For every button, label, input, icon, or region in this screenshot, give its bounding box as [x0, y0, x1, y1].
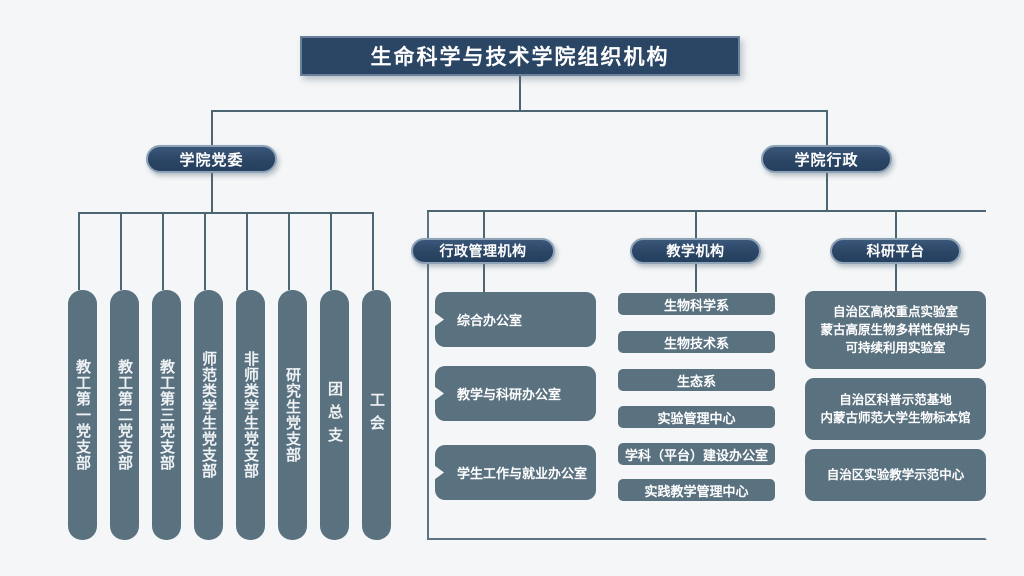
admin-office-box[interactable]: 学生工作与就业办公室: [435, 445, 596, 500]
teaching-unit-box[interactable]: 生物技术系: [618, 331, 775, 353]
connector-admin-spine: [427, 210, 986, 212]
party-unit-column[interactable]: 教工第一党支部: [68, 290, 97, 540]
party-unit-column[interactable]: 非师类学生党支部: [236, 290, 265, 540]
connector-party-drop-6: [288, 212, 290, 290]
admin-office-box[interactable]: 综合办公室: [435, 292, 596, 347]
connector-party-drop-4: [204, 212, 206, 290]
connector-teaching-rail: [695, 264, 697, 292]
connector-party-drop-7: [330, 212, 332, 290]
org-chart-canvas: 生命科学与技术学院组织机构 学院党委 学院行政 教工第一党支部 教工第二党支部 …: [0, 0, 1024, 576]
party-unit-column[interactable]: 师范类学生党支部: [194, 290, 223, 540]
connector-party-drop-1: [78, 212, 80, 290]
party-unit-column[interactable]: 教工第三党支部: [152, 290, 181, 540]
teaching-unit-box[interactable]: 实验管理中心: [618, 406, 775, 428]
teaching-unit-box[interactable]: 生态系: [618, 369, 775, 391]
org-chart-title: 生命科学与技术学院组织机构: [300, 36, 740, 76]
admin-office-box[interactable]: 教学与科研办公室: [435, 366, 596, 421]
connector-root-spine: [211, 110, 828, 112]
connector-admin-rail: [483, 264, 485, 292]
research-platform-line: 内蒙古师范大学生物标本馆: [820, 409, 970, 427]
node-college-administration[interactable]: 学院行政: [761, 145, 892, 173]
connector-root-stem: [519, 76, 521, 112]
party-unit-column[interactable]: 教工第二党支部: [110, 290, 139, 540]
connector-party-stem: [211, 173, 213, 214]
group-header-research[interactable]: 科研平台: [830, 238, 961, 264]
connector-party-drop-5: [246, 212, 248, 290]
research-platform-line: 自治区实验教学示范中心: [827, 466, 965, 484]
research-platform-box[interactable]: 自治区实验教学示范中心: [805, 449, 986, 501]
connector-party-drop-2: [120, 212, 122, 290]
connector-admin-stem: [826, 173, 828, 212]
research-platform-box[interactable]: 自治区科普示范基地 内蒙古师范大学生物标本馆: [805, 378, 986, 440]
research-platform-line: 蒙古高原生物多样性保护与: [820, 321, 970, 339]
research-platform-line: 可持续利用实验室: [845, 339, 945, 357]
group-header-teaching[interactable]: 教学机构: [630, 238, 761, 264]
connector-party-drop-3: [162, 212, 164, 290]
research-platform-box[interactable]: 自治区高校重点实验室 蒙古高原生物多样性保护与 可持续利用实验室: [805, 291, 986, 369]
connector-party-drop-8: [372, 212, 374, 290]
connector-research-rail: [895, 264, 897, 292]
party-unit-column[interactable]: 团总支: [320, 290, 349, 540]
teaching-unit-box[interactable]: 实践教学管理中心: [618, 479, 775, 501]
teaching-unit-box[interactable]: 生物科学系: [618, 293, 775, 315]
node-party-committee[interactable]: 学院党委: [146, 145, 277, 173]
party-unit-column[interactable]: 工会: [362, 290, 391, 540]
teaching-unit-box[interactable]: 学科（平台）建设办公室: [618, 443, 775, 465]
research-platform-line: 自治区科普示范基地: [839, 391, 952, 409]
party-unit-column[interactable]: 研究生党支部: [278, 290, 307, 540]
research-platform-line: 自治区高校重点实验室: [833, 303, 958, 321]
group-header-administration[interactable]: 行政管理机构: [411, 238, 555, 264]
